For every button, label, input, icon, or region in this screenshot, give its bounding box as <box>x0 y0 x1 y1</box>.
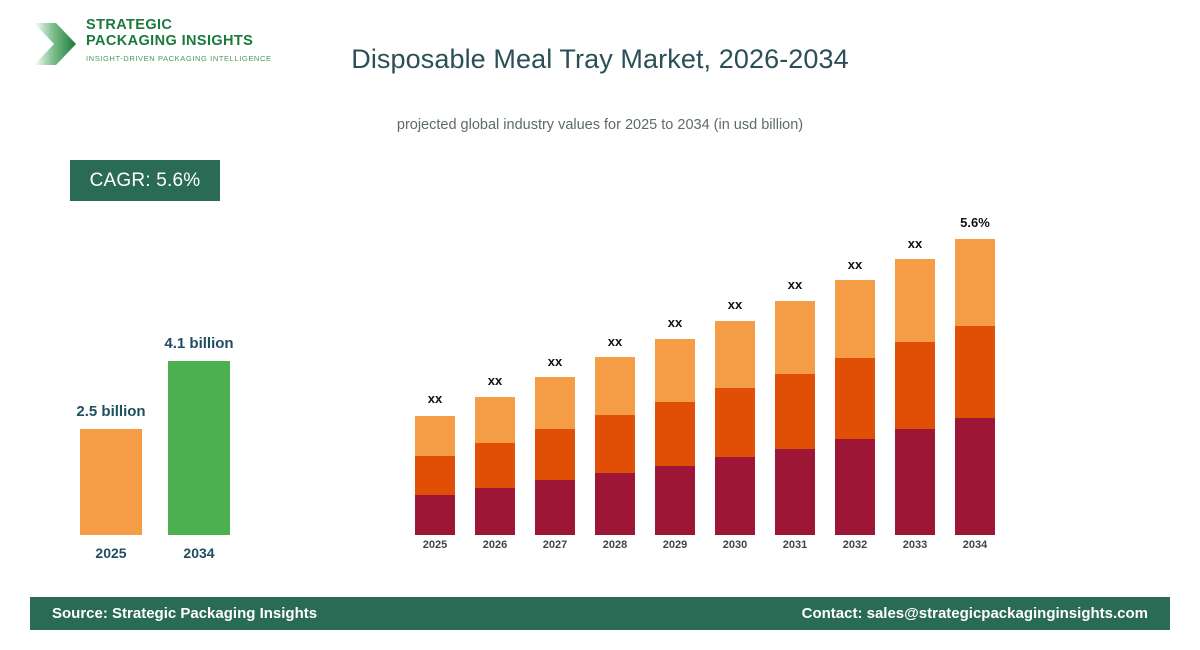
stacked-bar-segment <box>415 416 455 456</box>
stacked-bar-x-label: 2025 <box>423 539 447 551</box>
stacked-bar: xx2026 <box>475 0 515 535</box>
stacked-bar-segment <box>955 326 995 418</box>
stacked-bar-x-label: 2026 <box>483 539 507 551</box>
stacked-bar: xx2028 <box>595 0 635 535</box>
stacked-bar-segment <box>475 488 515 535</box>
stacked-bar-top-label: xx <box>848 257 862 272</box>
stacked-bar-x-label: 2027 <box>543 539 567 551</box>
stacked-bar-segment <box>655 466 695 535</box>
stacked-bar-segment <box>595 415 635 473</box>
stacked-bar-segment <box>775 301 815 374</box>
stacked-bar-segment <box>595 357 635 415</box>
stacked-bar-top-label: xx <box>668 315 682 330</box>
stacked-bar: xx2025 <box>415 0 455 535</box>
stacked-bar-x-label: 2034 <box>963 539 987 551</box>
stacked-bar-segment <box>895 342 935 429</box>
stacked-bar-segment <box>535 377 575 429</box>
stacked-bar: 5.6%2034 <box>955 0 995 535</box>
stacked-forecast-chart: xx2025xx2026xx2027xx2028xx2029xx2030xx20… <box>0 0 1200 600</box>
stacked-bar-x-label: 2032 <box>843 539 867 551</box>
stacked-bar-segment <box>835 358 875 439</box>
infographic-canvas: STRATEGIC PACKAGING INSIGHTS INSIGHT-DRI… <box>0 0 1200 650</box>
stacked-bar-top-label: xx <box>728 297 742 312</box>
stacked-bar-segment <box>535 480 575 535</box>
stacked-bar-segment <box>715 321 755 388</box>
stacked-bar-segment <box>415 495 455 535</box>
stacked-bar-segment <box>775 374 815 449</box>
stacked-bar-top-label: xx <box>608 334 622 349</box>
stacked-bar: xx2027 <box>535 0 575 535</box>
stacked-bar-top-label: 5.6% <box>960 215 990 230</box>
stacked-bar-x-label: 2028 <box>603 539 627 551</box>
stacked-bar-segment <box>655 402 695 466</box>
footer-source-text: Source: Strategic Packaging Insights <box>52 597 317 630</box>
stacked-bar-segment <box>535 429 575 480</box>
stacked-bar: xx2031 <box>775 0 815 535</box>
stacked-bar-segment <box>475 397 515 443</box>
stacked-bar-x-label: 2029 <box>663 539 687 551</box>
stacked-bar-segment <box>955 239 995 326</box>
stacked-bar-top-label: xx <box>488 373 502 388</box>
stacked-bar-segment <box>895 429 935 535</box>
stacked-bar-segment <box>715 457 755 535</box>
stacked-bar-top-label: xx <box>428 391 442 406</box>
stacked-bar-segment <box>835 439 875 535</box>
stacked-bar-segment <box>895 259 935 342</box>
stacked-bar: xx2032 <box>835 0 875 535</box>
stacked-bar-x-label: 2030 <box>723 539 747 551</box>
stacked-bar-x-label: 2033 <box>903 539 927 551</box>
stacked-bar: xx2029 <box>655 0 695 535</box>
stacked-bar-top-label: xx <box>788 277 802 292</box>
stacked-bar: xx2030 <box>715 0 755 535</box>
stacked-bar-segment <box>955 418 995 535</box>
footer-bar: Source: Strategic Packaging Insights Con… <box>30 597 1170 630</box>
stacked-bar-segment <box>775 449 815 535</box>
stacked-bar-segment <box>835 280 875 358</box>
stacked-bar-top-label: xx <box>908 236 922 251</box>
stacked-bar-segment <box>415 456 455 495</box>
stacked-bar-segment <box>595 473 635 535</box>
stacked-bar-x-label: 2031 <box>783 539 807 551</box>
stacked-bar-top-label: xx <box>548 354 562 369</box>
stacked-bar-segment <box>715 388 755 457</box>
stacked-bar-segment <box>655 339 695 402</box>
stacked-bar-segment <box>475 443 515 488</box>
stacked-bar: xx2033 <box>895 0 935 535</box>
footer-contact-text: Contact: sales@strategicpackaginginsight… <box>802 597 1148 630</box>
